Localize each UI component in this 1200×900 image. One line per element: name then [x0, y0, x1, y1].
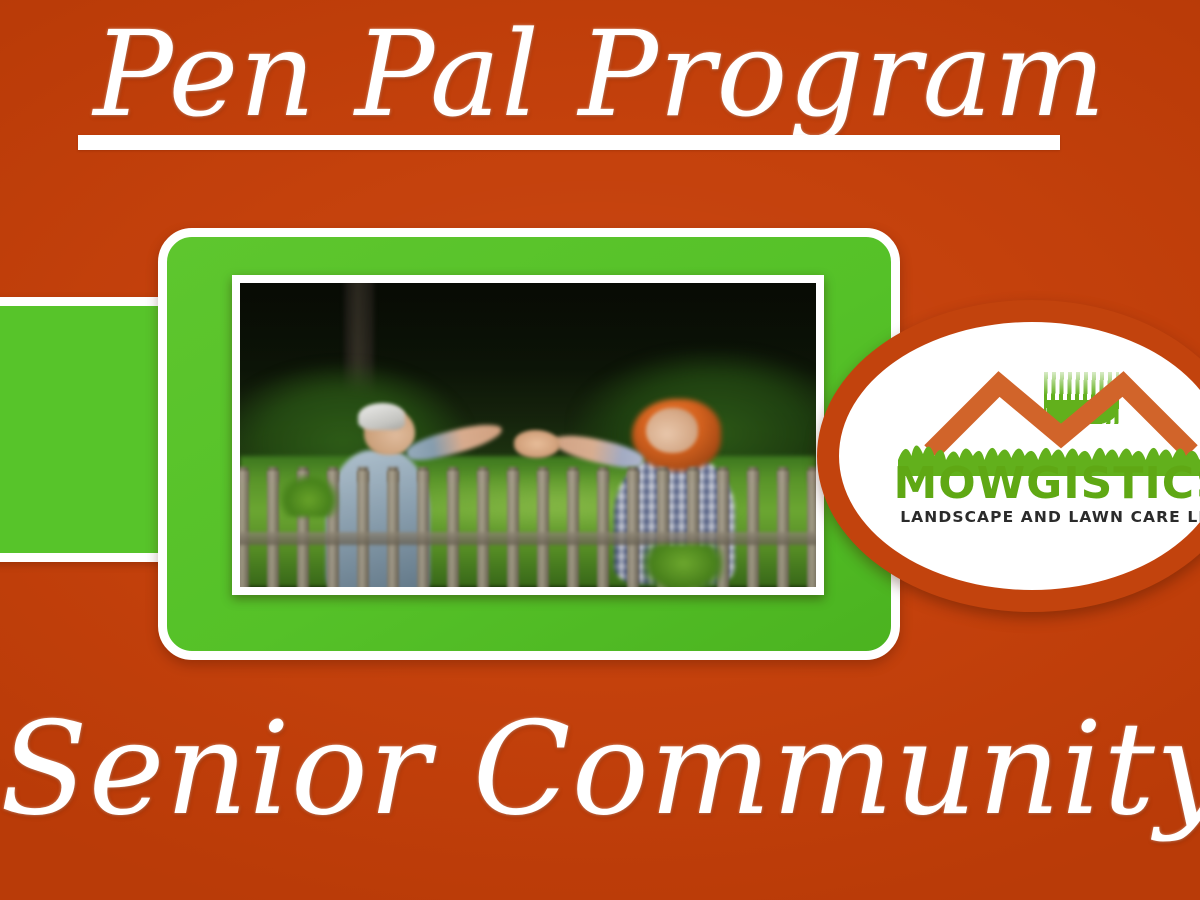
- photo-shrub-right: [643, 544, 724, 587]
- footer-subtitle: Senior Community: [0, 700, 1200, 841]
- page-title: Pen Pal Program: [0, 8, 1200, 140]
- logo-inner: MOWGISTICS LANDSCAPE AND LAWN CARE LLC: [891, 370, 1200, 540]
- photo-mat: [232, 275, 824, 595]
- photo-fence-rail: [240, 532, 816, 545]
- logo-tagline: LANDSCAPE AND LAWN CARE LLC: [891, 510, 1200, 526]
- photo-woman-head: [646, 408, 698, 454]
- logo-mark: [891, 370, 1200, 466]
- photo-clasped-hands: [514, 430, 560, 457]
- poster-canvas: MOWGISTICS LANDSCAPE AND LAWN CARE LLC P…: [0, 0, 1200, 900]
- photo-shrub-left: [280, 475, 338, 518]
- logo-wordmark: MOWGISTICS: [891, 462, 1200, 506]
- title-underline: [78, 135, 1060, 150]
- photo-man-hair: [358, 403, 405, 429]
- photo-handshake-seniors: [240, 283, 816, 587]
- title-block: Pen Pal Program: [0, 8, 1200, 140]
- footer-block: Senior Community: [0, 700, 1200, 841]
